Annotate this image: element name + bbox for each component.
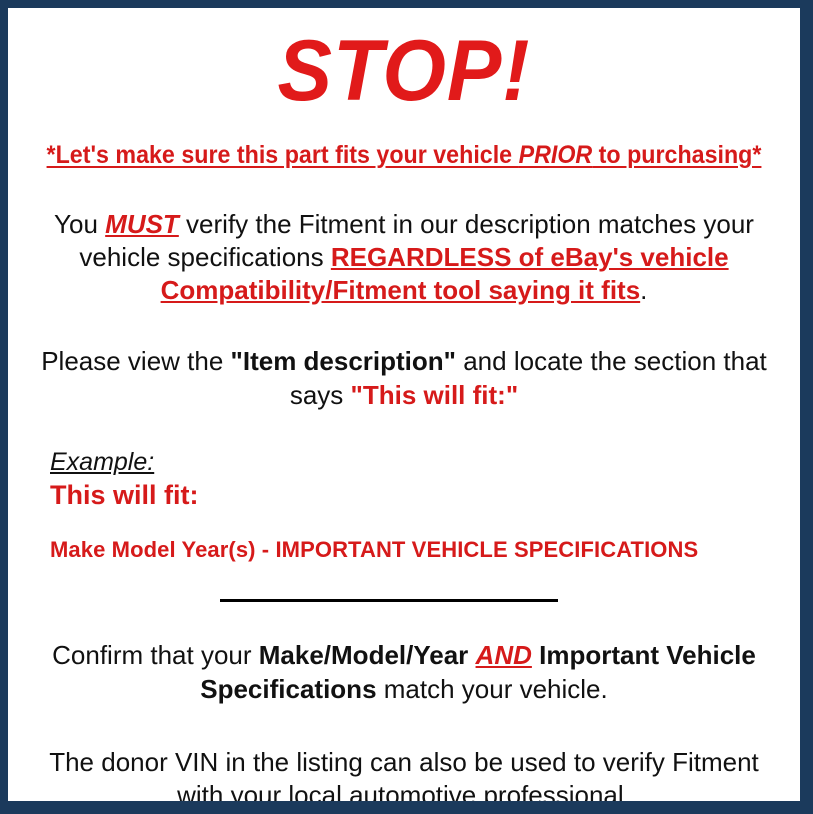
paragraph-vin: The donor VIN in the listing can also be… — [8, 706, 800, 813]
page-title: STOP! — [28, 8, 780, 114]
section-divider — [220, 599, 558, 602]
poster-content: STOP! *Let's make sure this part fits yo… — [8, 8, 800, 801]
must-emphasis-must: MUST — [105, 209, 179, 239]
paragraph-confirm: Confirm that your Make/Model/Year AND Im… — [8, 607, 800, 706]
confirm-part4: match your vehicle. — [377, 674, 608, 704]
subtitle-banner: *Let's make sure this part fits your veh… — [36, 114, 773, 170]
view-part1: Please view the — [41, 346, 230, 376]
must-part1: You — [54, 209, 105, 239]
example-spec-line: Make Model Year(s) - IMPORTANT VEHICLE S… — [50, 511, 800, 563]
fitment-warning-poster: STOP! *Let's make sure this part fits yo… — [0, 0, 813, 814]
subtitle-prefix: *Let's make sure this part fits your veh… — [47, 141, 519, 169]
subtitle-emphasis: PRIOR — [519, 141, 593, 169]
paragraph-view: Please view the "Item description" and l… — [8, 307, 800, 412]
example-label-row: Example: — [50, 448, 800, 477]
confirm-part2 — [468, 640, 475, 670]
confirm-emphasis-make-model-year: Make/Model/Year — [259, 640, 469, 670]
example-block: Example: This will fit: Make Model Year(… — [8, 412, 800, 564]
paragraph-must: You MUST verify the Fitment in our descr… — [8, 170, 800, 308]
must-part3: . — [640, 275, 647, 305]
example-label: Example: — [50, 448, 154, 477]
subtitle-suffix: to purchasing* — [592, 141, 761, 169]
view-emphasis-item-description: "Item description" — [231, 346, 456, 376]
confirm-emphasis-and: AND — [476, 640, 532, 670]
example-fit-heading: This will fit: — [50, 477, 800, 511]
confirm-part1: Confirm that your — [52, 640, 259, 670]
view-emphasis-this-will-fit: "This will fit:" — [351, 380, 519, 410]
divider-wrap — [8, 563, 800, 607]
